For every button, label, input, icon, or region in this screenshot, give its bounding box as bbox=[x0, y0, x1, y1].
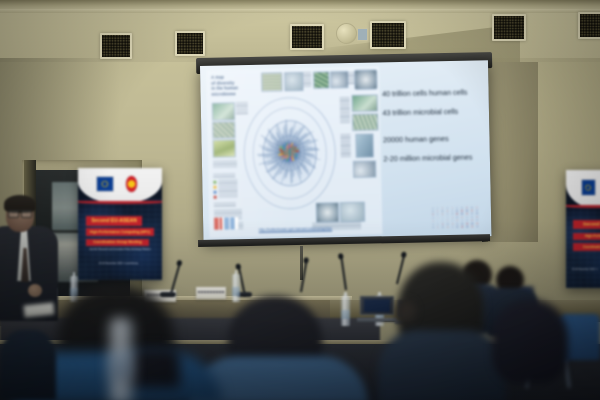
legend-swatch-2 bbox=[213, 186, 216, 189]
micrograph-thumb-10 bbox=[352, 113, 379, 131]
asean-logo-icon bbox=[125, 175, 138, 193]
logo-dot bbox=[442, 220, 444, 222]
logo-dot bbox=[466, 216, 468, 218]
laptop-2-lid bbox=[360, 296, 394, 315]
bottle-3-label bbox=[341, 310, 350, 319]
logo-dot bbox=[442, 223, 444, 225]
logo-dot bbox=[476, 216, 478, 218]
logo-dot bbox=[442, 214, 444, 216]
glasses-icon bbox=[8, 210, 32, 216]
logo-dot bbox=[461, 210, 463, 212]
slide-content: A map of diversity in the human microbio… bbox=[200, 60, 491, 242]
logo-dot bbox=[461, 213, 463, 215]
wall-vent-2 bbox=[175, 31, 205, 56]
logo-dot bbox=[442, 217, 444, 219]
water-bottle-3 bbox=[341, 296, 350, 326]
micrograph-thumb-6 bbox=[212, 103, 235, 121]
logo-dot bbox=[462, 226, 464, 228]
banner-left-subline: Joint EU Research and Innovation Policy … bbox=[86, 249, 153, 251]
logo-dot bbox=[447, 223, 449, 225]
banner-left-band-2: High-Performance Computing (HPC) bbox=[86, 228, 153, 236]
wall-square-fixture bbox=[357, 28, 368, 41]
logo-dot bbox=[462, 223, 464, 225]
logo-dot bbox=[437, 211, 439, 213]
laptop-2-base bbox=[357, 318, 397, 322]
logo-dot bbox=[437, 217, 439, 219]
ceiling-cornice-highlight bbox=[0, 9, 600, 13]
logo-dot bbox=[471, 216, 473, 218]
slide-bullet-3: 20000 human genes bbox=[383, 135, 487, 144]
logo-dot bbox=[471, 226, 473, 228]
logo-dot bbox=[432, 217, 434, 219]
logo-dot bbox=[447, 207, 449, 209]
placard-2-text bbox=[198, 291, 223, 293]
wall-panel-right bbox=[486, 62, 538, 242]
logo-dot bbox=[476, 226, 478, 228]
logo-dot bbox=[471, 219, 473, 221]
logo-dot bbox=[437, 220, 439, 222]
circular-phylogenetic-tree bbox=[234, 85, 344, 219]
logo-dot bbox=[452, 223, 454, 225]
micrograph-thumb-8 bbox=[212, 140, 235, 158]
name-placard-2 bbox=[196, 287, 226, 299]
banner-right-band-3: Coordination G bbox=[573, 243, 600, 251]
logo-dot bbox=[476, 210, 478, 212]
banner-left-band-1: Second EU-ASEAN bbox=[86, 216, 141, 226]
bottle-2-label bbox=[232, 287, 240, 295]
logo-dot bbox=[452, 213, 454, 215]
logo-dot bbox=[466, 223, 468, 225]
logo-dot bbox=[466, 207, 468, 209]
logo-dot bbox=[432, 214, 434, 216]
logo-dot bbox=[471, 223, 473, 225]
legend-swatch-1 bbox=[213, 181, 216, 184]
logo-dot bbox=[457, 217, 459, 219]
poster-legend-symbols bbox=[213, 160, 237, 169]
logo-dot bbox=[466, 210, 468, 212]
audience-hair-bun bbox=[396, 300, 416, 322]
logo-dot bbox=[447, 220, 449, 222]
wall-vent-5 bbox=[492, 14, 526, 41]
micrograph-thumb-14 bbox=[340, 201, 365, 222]
logo-dot bbox=[437, 214, 439, 216]
logo-dot bbox=[461, 220, 463, 222]
logo-dot bbox=[437, 223, 439, 225]
logo-dot bbox=[476, 223, 478, 225]
logo-dot bbox=[456, 207, 458, 209]
logo-dot bbox=[452, 217, 454, 219]
slide-corner-dot-logo bbox=[432, 206, 481, 230]
audience-body-left-edge bbox=[0, 330, 56, 400]
audience-head-far-right bbox=[492, 300, 568, 384]
logo-dot bbox=[447, 214, 449, 216]
logo-dot bbox=[456, 210, 458, 212]
micrograph-thumb-5 bbox=[354, 69, 377, 90]
logo-dot bbox=[452, 226, 454, 228]
logo-dot bbox=[432, 223, 434, 225]
logo-dot bbox=[471, 213, 473, 215]
logo-dot bbox=[447, 210, 449, 212]
logo-dot bbox=[457, 220, 459, 222]
logo-dot bbox=[442, 210, 444, 212]
logo-dot bbox=[457, 226, 459, 228]
logo-dot bbox=[437, 227, 439, 229]
logo-dot bbox=[466, 213, 468, 215]
logo-dot bbox=[451, 207, 453, 209]
logo-dot bbox=[476, 207, 478, 209]
logo-dot bbox=[432, 207, 434, 209]
audience-body-front-right bbox=[378, 330, 506, 400]
water-bottle-2 bbox=[232, 274, 240, 302]
micrograph-thumb-11 bbox=[356, 134, 374, 158]
poster-bottom-logo bbox=[214, 217, 238, 229]
banner-right-band-2: High-Perform bbox=[573, 233, 600, 241]
logo-dot bbox=[447, 226, 449, 228]
banner-right-footer: 15-16 November 2023 • L bbox=[572, 269, 600, 271]
poster-legend-heading-1 bbox=[213, 174, 236, 180]
logo-dot bbox=[437, 207, 439, 209]
logo-dot bbox=[432, 220, 434, 222]
microbiome-poster: A map of diversity in the human microbio… bbox=[206, 66, 382, 238]
wall-vent-4 bbox=[370, 21, 406, 49]
logo-dot bbox=[471, 210, 473, 212]
logo-dot bbox=[432, 211, 434, 213]
logo-dot bbox=[442, 207, 444, 209]
micrograph-thumb-9 bbox=[352, 95, 379, 113]
poster-url-link[interactable]: http://huttenhower.sph.harvard.edu/metap… bbox=[233, 225, 357, 231]
poster-caption-1 bbox=[303, 72, 312, 87]
rollup-banner-right: Second E High-Perform Coordination G 15-… bbox=[566, 170, 600, 288]
logo-dot bbox=[461, 216, 463, 218]
slide-bullet-list: 40 trillion cells human cells 43 trillio… bbox=[382, 88, 487, 174]
banner-left-band-3: Coordination Group Meeting bbox=[86, 239, 148, 247]
logo-dot bbox=[457, 223, 459, 225]
microphone-1-base bbox=[160, 292, 176, 297]
photo-scene: A map of diversity in the human microbio… bbox=[0, 0, 600, 400]
banner-left-line-3: Coordination Group Meeting bbox=[93, 240, 142, 244]
micrograph-thumb-12 bbox=[353, 161, 376, 179]
logo-dot bbox=[447, 217, 449, 219]
banner-right-line-3: Coordination G bbox=[583, 245, 600, 249]
rollup-banner-left: Second EU-ASEAN High-Performance Computi… bbox=[78, 168, 162, 280]
logo-dot bbox=[476, 219, 478, 221]
legend-swatch-3 bbox=[213, 191, 216, 194]
eu-flag-icon-right bbox=[581, 179, 596, 195]
wall-vent-6 bbox=[578, 12, 600, 39]
wall-vent-1 bbox=[100, 33, 132, 59]
banner-left-line-1: Second EU-ASEAN bbox=[91, 218, 137, 224]
bottle-1-label bbox=[70, 288, 78, 296]
laptop-2[interactable] bbox=[360, 296, 394, 322]
laptop-2-screen bbox=[364, 299, 390, 312]
banner-left-line-2: High-Performance Computing (HPC) bbox=[90, 230, 150, 234]
eu-flag-icon bbox=[96, 176, 113, 193]
water-bottle-foreground-label bbox=[108, 354, 134, 380]
logo-dot bbox=[466, 220, 468, 222]
slide-bullet-1: 40 trillion cells human cells bbox=[382, 88, 486, 97]
banner-left-footer: 15-16 November 2023 • Luxembourg bbox=[86, 262, 150, 265]
banner-right-line-2: High-Perform bbox=[585, 234, 600, 238]
poster-legend-heading-2 bbox=[214, 202, 237, 208]
logo-dot bbox=[456, 213, 458, 215]
logo-dot bbox=[432, 227, 434, 229]
banner-right-line-1: Second E bbox=[583, 222, 600, 227]
wall-vent-3 bbox=[290, 24, 324, 50]
wall-circle-fixture bbox=[336, 23, 357, 44]
logo-dot bbox=[476, 213, 478, 215]
logo-dot bbox=[471, 207, 473, 209]
slide-bullet-4: 2-20 million microbial genes bbox=[383, 153, 487, 162]
logo-dot bbox=[442, 226, 444, 228]
logo-dot bbox=[451, 210, 453, 212]
logo-dot bbox=[461, 207, 463, 209]
legend-swatch-4 bbox=[214, 196, 217, 199]
presenter-hand bbox=[28, 284, 42, 297]
slide-bullet-2: 43 trillion microbial cells bbox=[382, 107, 486, 116]
micrograph-thumb-7 bbox=[212, 121, 235, 139]
banner-right-band-1: Second E bbox=[573, 220, 600, 229]
logo-dot bbox=[452, 220, 454, 222]
projection-screen-surface: A map of diversity in the human microbio… bbox=[200, 60, 491, 242]
logo-dot bbox=[466, 226, 468, 228]
projection-screen: A map of diversity in the human microbio… bbox=[200, 60, 491, 242]
poster-caption-2 bbox=[346, 71, 355, 85]
